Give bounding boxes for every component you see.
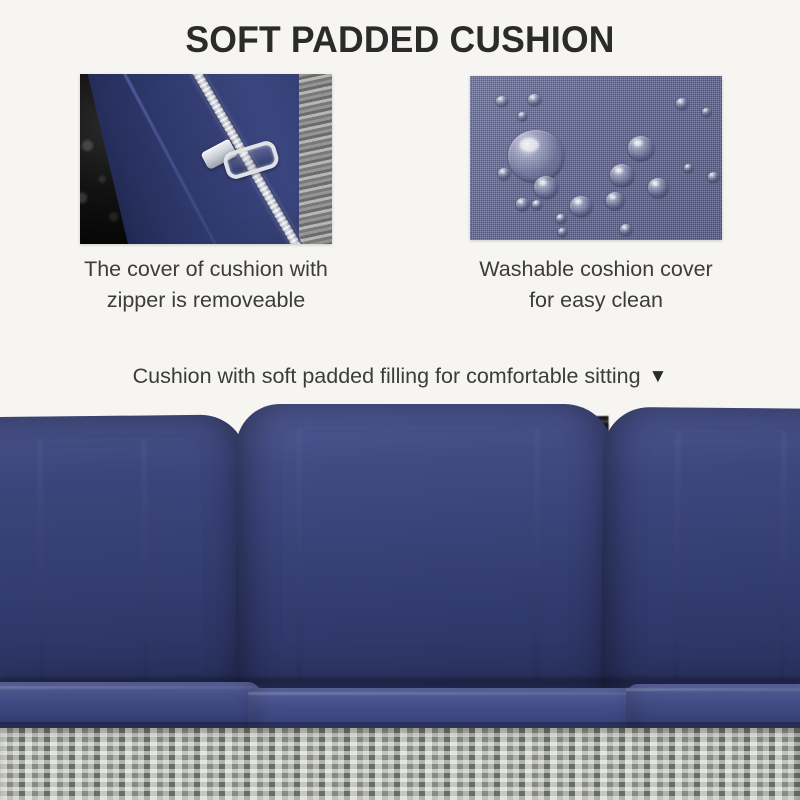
seat-piping xyxy=(248,692,638,695)
page-title: SOFT PADDED CUSHION xyxy=(16,18,784,62)
water-droplet xyxy=(518,112,527,120)
water-droplet xyxy=(528,94,541,105)
water-droplet xyxy=(610,164,634,186)
back-cushion-left xyxy=(0,414,250,717)
cushion-crease xyxy=(675,432,679,678)
water-droplet xyxy=(516,198,529,210)
banner-caption: Cushion with soft padded filling for com… xyxy=(0,361,800,392)
caption-zipper-cover: The cover of cushion with zipper is remo… xyxy=(56,254,356,316)
caption-washable-cover: Washable coshion cover for easy clean xyxy=(452,254,740,316)
water-droplet xyxy=(702,108,711,116)
caption-line: for easy clean xyxy=(452,285,740,316)
cushion-crease xyxy=(39,441,44,681)
water-droplet xyxy=(708,172,719,182)
cushion-crease xyxy=(298,429,300,679)
back-cushion-center xyxy=(236,404,614,716)
caption-line: zipper is removeable xyxy=(56,285,356,316)
gray-wicker-base xyxy=(0,728,800,800)
cushion-crease xyxy=(143,440,148,680)
water-droplet xyxy=(570,196,592,216)
water-droplet xyxy=(508,130,564,182)
water-repellent-fabric-photo xyxy=(470,76,722,240)
water-droplet xyxy=(606,192,624,209)
back-cushion-right xyxy=(601,407,800,717)
water-droplet xyxy=(498,168,510,179)
water-droplet xyxy=(558,228,567,236)
water-droplet xyxy=(648,178,668,197)
water-droplet xyxy=(620,224,632,235)
water-droplet xyxy=(556,214,566,223)
navy-sofa-cushion-photo xyxy=(0,398,800,800)
caption-line: The cover of cushion with xyxy=(56,254,356,285)
chevron-down-icon: ▼ xyxy=(649,362,668,392)
water-droplet xyxy=(534,176,558,198)
water-droplet xyxy=(628,136,654,160)
infographic-page: SOFT PADDED CUSHION xyxy=(0,0,800,800)
zipper-detail-photo xyxy=(80,74,332,244)
water-droplet xyxy=(676,98,688,109)
cushion-crease xyxy=(536,429,538,679)
caption-line: Washable coshion cover xyxy=(452,254,740,285)
seat-piping xyxy=(626,688,800,691)
water-droplet xyxy=(532,200,542,209)
water-droplet xyxy=(684,164,693,172)
seat-piping xyxy=(0,686,260,689)
gray-wicker-edge xyxy=(299,74,332,244)
water-droplet xyxy=(496,96,508,106)
banner-text: Cushion with soft padded filling for com… xyxy=(133,364,641,388)
cushion-crease xyxy=(781,433,785,679)
